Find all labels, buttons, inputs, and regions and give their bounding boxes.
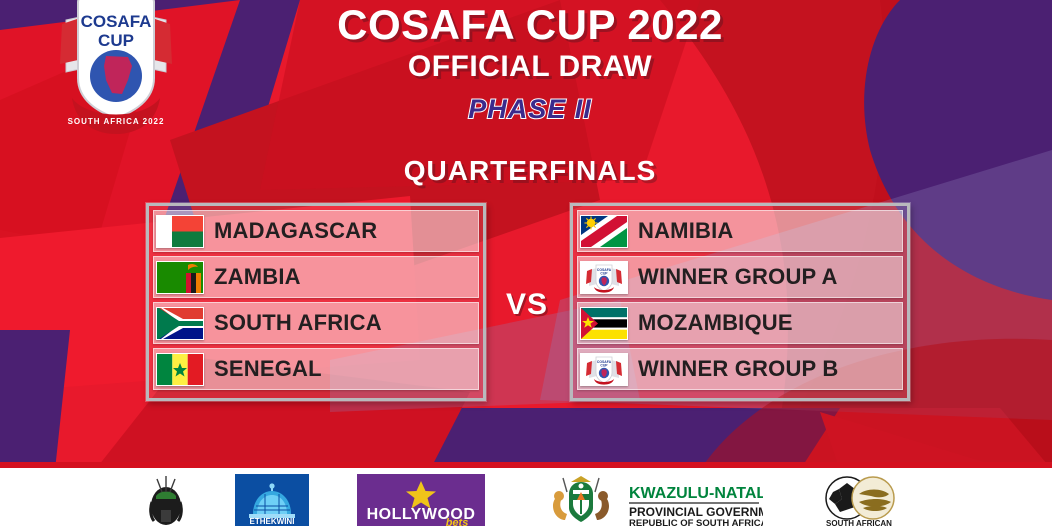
bracket-row[interactable]: COSAFA CUP WINNER GROUP A xyxy=(577,256,903,298)
team-name: ZAMBIA xyxy=(214,264,301,290)
safa-label: SOUTH AFRICAN xyxy=(826,519,892,526)
bracket-row[interactable]: NAMIBIA xyxy=(577,210,903,252)
bracket-row[interactable]: SENEGAL xyxy=(153,348,479,390)
kzn-title: KWAZULU-NATAL xyxy=(629,485,763,502)
bracket-row[interactable]: MADAGASCAR xyxy=(153,210,479,252)
cosafa-cup-logo: COSAFA CUP SOUTH AFRICA 2022 xyxy=(48,0,184,134)
round-heading: QUARTERFINALS xyxy=(230,155,830,187)
cosafa-badge: COSAFA CUP xyxy=(580,261,628,294)
south-african-football-logo: SOUTH AFRICAN xyxy=(811,474,907,526)
team-name: WINNER GROUP B xyxy=(638,356,838,382)
south-africa-flag xyxy=(156,307,204,340)
title-block: COSAFA CUP 2022 OFFICIAL DRAW PHASE II xyxy=(230,2,830,129)
bracket-row[interactable]: COSAFA CUP WINNER GROUP B xyxy=(577,348,903,390)
kzn-subtitle-2: REPUBLIC OF SOUTH AFRICA xyxy=(629,518,763,526)
bracket-row[interactable]: MOZAMBIQUE xyxy=(577,302,903,344)
hollywoodbets-logo: HOLLYWOOD bets xyxy=(357,474,485,526)
logo-ribbon-text: SOUTH AFRICA 2022 xyxy=(68,117,165,126)
ethekwini-logo: ETHEKWINI xyxy=(235,474,309,526)
logo-line1: COSAFA xyxy=(81,12,152,31)
senegal-flag xyxy=(156,353,204,386)
kzn-subtitle: PROVINCIAL GOVERNMENT xyxy=(629,505,763,519)
phase-label: PHASE II xyxy=(230,89,830,129)
bracket-row[interactable]: SOUTH AFRICA xyxy=(153,302,479,344)
bracket-panel-left: MADAGASCAR ZAMBIA xyxy=(146,203,486,401)
kwazulu-natal-logo: KWAZULU-NATAL PROVINCIAL GOVERNMENT REPU… xyxy=(533,474,763,526)
cosafa-badge: COSAFA CUP xyxy=(580,353,628,386)
namibia-flag xyxy=(580,215,628,248)
mozambique-flag xyxy=(580,307,628,340)
page-subtitle: OFFICIAL DRAW xyxy=(230,49,830,85)
vs-label: VS xyxy=(486,288,568,322)
hollywoodbets-bets: bets xyxy=(446,517,469,526)
team-name: MADAGASCAR xyxy=(214,218,377,244)
bracket-panel-right: NAMIBIA COSAFA CUP WINNER GROUP xyxy=(570,203,910,401)
cosafa-cup-logo-icon: COSAFA CUP SOUTH AFRICA 2022 xyxy=(48,0,184,134)
team-name: SENEGAL xyxy=(214,356,322,382)
svg-text:CUP: CUP xyxy=(600,271,608,275)
sponsor-bar: ETHEKWINI HOLLYWOOD bets xyxy=(0,468,1052,526)
bracket-row[interactable]: ZAMBIA xyxy=(153,256,479,298)
ethekwini-label: ETHEKWINI xyxy=(250,517,295,526)
team-name: SOUTH AFRICA xyxy=(214,310,382,336)
svg-text:CUP: CUP xyxy=(600,363,608,367)
page-title: COSAFA CUP 2022 xyxy=(230,2,830,48)
team-name: NAMIBIA xyxy=(638,218,734,244)
logo-line2: CUP xyxy=(98,31,134,50)
zambia-flag xyxy=(156,261,204,294)
team-name: MOZAMBIQUE xyxy=(638,310,793,336)
team-name: WINNER GROUP A xyxy=(638,264,838,290)
cosafa-draw-graphic: COSAFA CUP SOUTH AFRICA 2022 COSAFA CUP … xyxy=(0,0,1052,526)
madagascar-flag xyxy=(156,215,204,248)
zulu-shield-logo xyxy=(145,474,187,526)
